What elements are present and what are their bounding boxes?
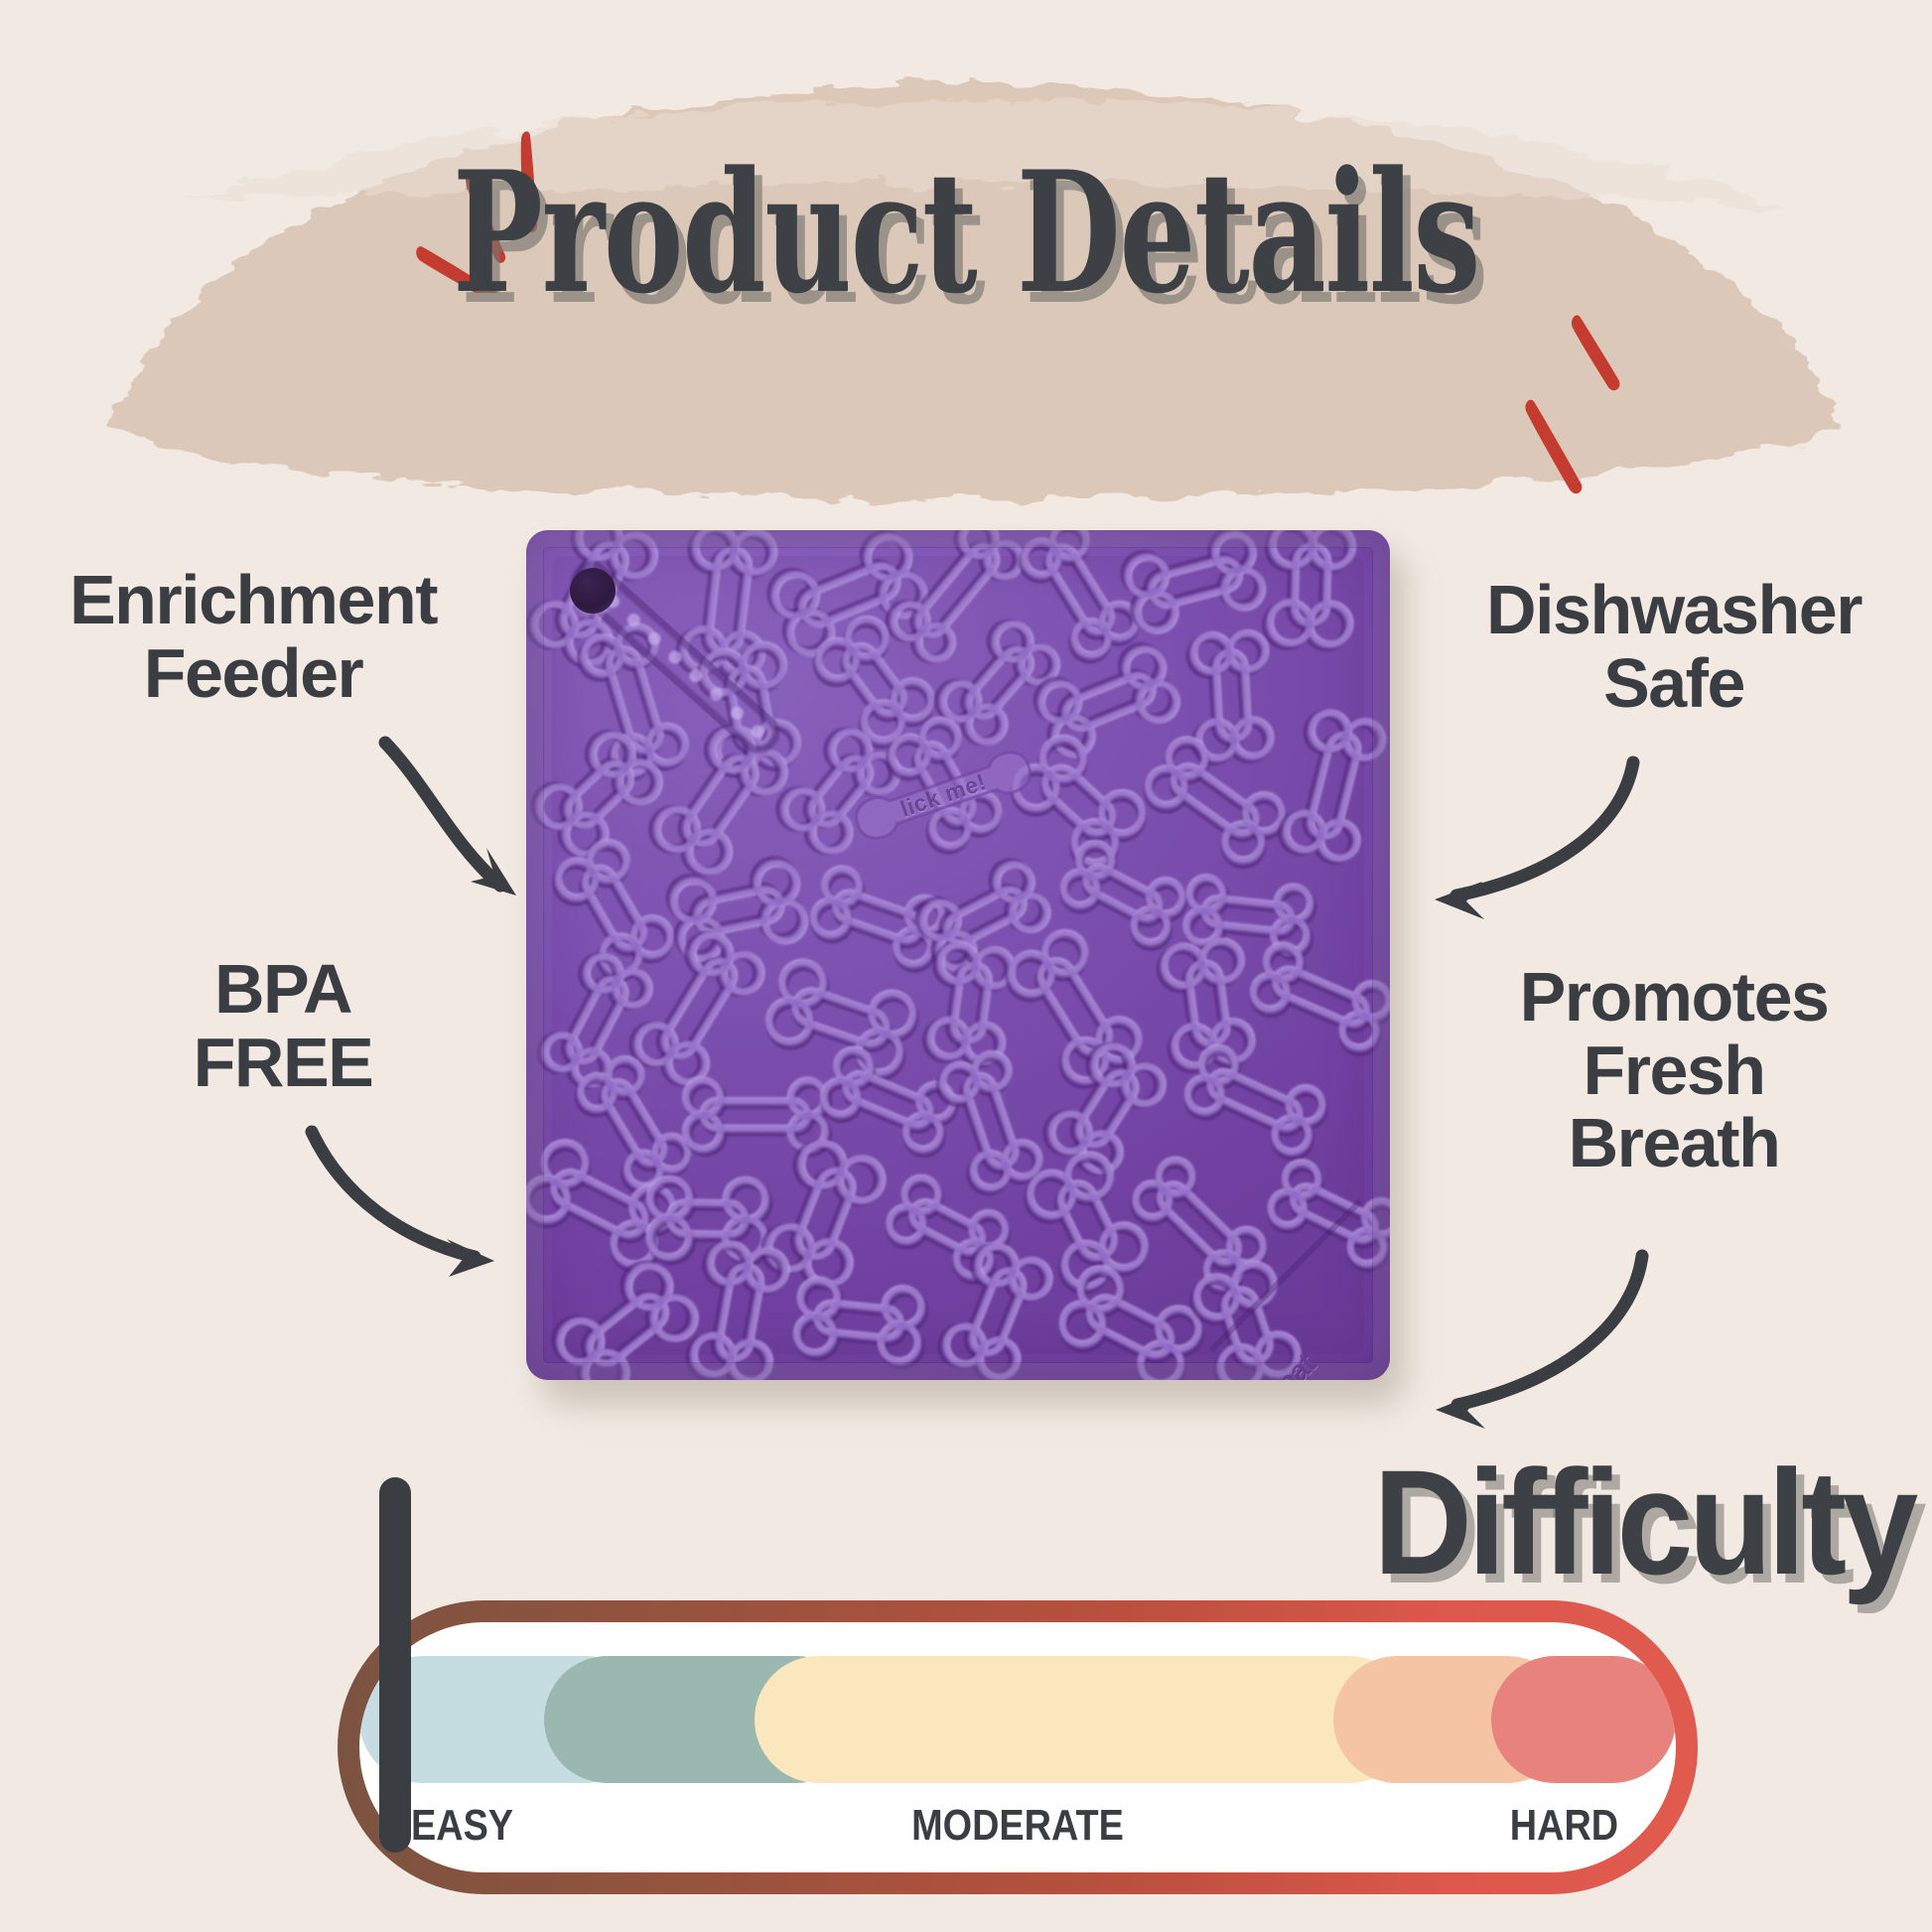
difficulty-title: Difficulty [1374,1448,1914,1596]
feature-line-2: FREE [149,1027,417,1100]
feature-line-1: BPA [149,953,417,1027]
feature-label-bpa-free: BPA FREE [149,953,417,1099]
arrow-promotes-fresh-breath [1400,1246,1688,1435]
difficulty-label-hard: HARD [1510,1801,1618,1851]
feature-label-promotes-fresh-breath: Promotes Fresh Breath [1426,961,1922,1180]
difficulty-meter[interactable]: EASY MODERATE HARD [338,1600,1698,1894]
difficulty-segment-hard [1491,1656,1676,1783]
difficulty-labels: EASY MODERATE HARD [359,1791,1676,1851]
difficulty-segments [359,1656,1676,1783]
feature-line-1: Dishwasher [1426,574,1922,647]
feature-line-2: Safe [1426,647,1922,721]
feature-line-2: Fresh [1426,1035,1922,1108]
difficulty-label-moderate: MODERATE [911,1801,1124,1851]
feature-line-1: Enrichment [20,564,486,637]
difficulty-segment-moderate [755,1656,1413,1783]
brand-name-line1: emat [1253,1348,1323,1380]
difficulty-meter-track: EASY MODERATE HARD [359,1622,1676,1872]
difficulty-label-easy: EASY [411,1801,513,1851]
feature-line-1: Promotes [1426,961,1922,1035]
infographic-canvas: Product Details Enrichment Feeder BPA FR… [0,0,1932,1932]
page-title: Product Details [270,149,1661,316]
arrow-dishwasher-safe [1395,755,1683,933]
feature-label-dishwasher-safe: Dishwasher Safe [1426,574,1922,720]
difficulty-indicator[interactable] [379,1477,411,1853]
feature-line-3: Breath [1426,1107,1922,1180]
hanging-hole-icon [570,568,616,614]
feature-label-enrichment-feeder: Enrichment Feeder [20,564,486,710]
lick-mat-product-image: lick me! emat bones [526,530,1390,1380]
feature-line-2: Feeder [20,637,486,711]
